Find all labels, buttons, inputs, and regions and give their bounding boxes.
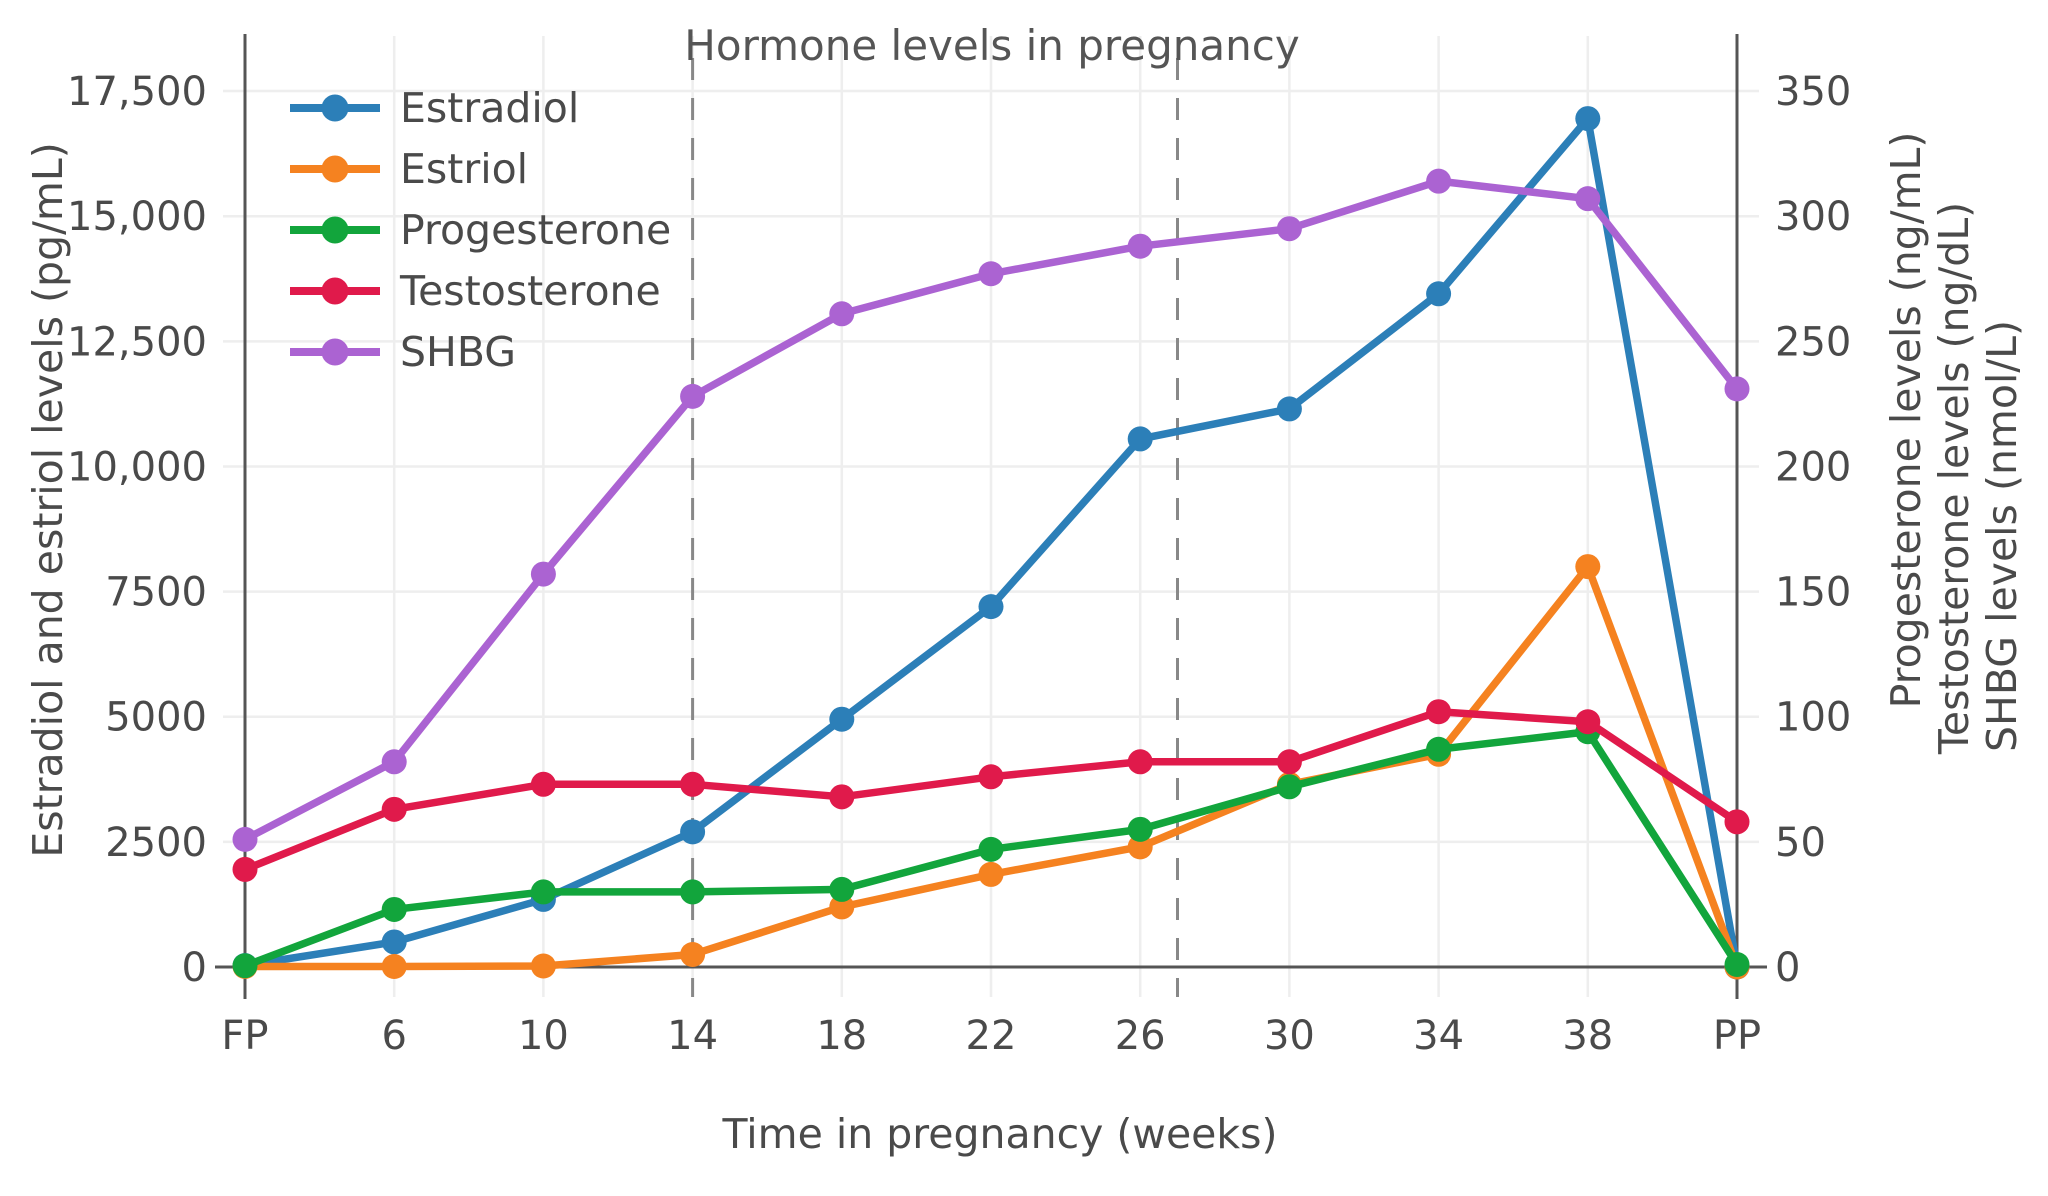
x-tick-label: 34: [1413, 1013, 1464, 1059]
legend-swatch-dot-progesterone: [322, 217, 349, 244]
legend-label-estradiol: Estradiol: [400, 84, 579, 132]
chart-legend: EstradiolEstriolProgesteroneTestosterone…: [290, 84, 671, 376]
data-point[interactable]: [1575, 554, 1600, 579]
data-point[interactable]: [382, 929, 407, 954]
y-left-tick-label: 7500: [105, 570, 207, 616]
y-left-tick-label: 2500: [105, 820, 207, 866]
data-point[interactable]: [979, 764, 1004, 789]
legend-swatch-dot-estradiol: [322, 95, 349, 122]
x-tick-label: 30: [1264, 1013, 1315, 1059]
y-left-tick-label: 0: [182, 945, 207, 991]
data-point[interactable]: [1426, 169, 1451, 194]
legend-item-estriol[interactable]: Estriol: [290, 145, 528, 193]
data-point[interactable]: [1128, 426, 1153, 451]
y-axis-right-title-2: Testosterone levels (ng/dL): [1930, 202, 1978, 755]
data-point[interactable]: [680, 772, 705, 797]
data-point[interactable]: [1725, 809, 1750, 834]
data-point[interactable]: [1725, 952, 1750, 977]
legend-label-shbg: SHBG: [400, 328, 516, 376]
y-axis-right-ticklabels: 350300250200150100500: [1775, 69, 1851, 991]
y-axis-left-ticklabels: 17,50015,00012,50010,0007500500025000: [67, 69, 207, 991]
data-point[interactable]: [1128, 234, 1153, 259]
data-point[interactable]: [829, 301, 854, 326]
data-point[interactable]: [680, 879, 705, 904]
legend-swatch-dot-shbg: [322, 339, 349, 366]
data-point[interactable]: [382, 897, 407, 922]
data-point[interactable]: [979, 862, 1004, 887]
data-point[interactable]: [1277, 774, 1302, 799]
data-point[interactable]: [531, 562, 556, 587]
data-point[interactable]: [829, 784, 854, 809]
y-right-tick-label: 0: [1775, 945, 1800, 991]
y-right-tick-label: 150: [1775, 570, 1851, 616]
x-tick-label: 38: [1562, 1013, 1613, 1059]
data-point[interactable]: [1128, 749, 1153, 774]
data-point[interactable]: [1426, 281, 1451, 306]
x-tick-label: 22: [966, 1013, 1017, 1059]
data-point[interactable]: [233, 953, 258, 978]
x-tick-label: 26: [1115, 1013, 1166, 1059]
y-left-tick-label: 12,500: [67, 319, 207, 365]
data-point[interactable]: [979, 837, 1004, 862]
legend-label-estriol: Estriol: [400, 145, 528, 193]
y-right-tick-label: 300: [1775, 194, 1851, 240]
data-point[interactable]: [680, 819, 705, 844]
x-tick-label: 6: [381, 1013, 406, 1059]
y-right-tick-label: 350: [1775, 69, 1851, 115]
legend-label-progesterone: Progesterone: [400, 206, 671, 254]
data-point[interactable]: [382, 749, 407, 774]
chart-title: Hormone levels in pregnancy: [684, 21, 1299, 70]
legend-item-progesterone[interactable]: Progesterone: [290, 206, 671, 254]
chart-container: FP61014182226303438PP 17,50015,00012,500…: [0, 0, 2048, 1196]
data-point[interactable]: [531, 772, 556, 797]
legend-item-testosterone[interactable]: Testosterone: [290, 267, 661, 315]
y-left-tick-label: 15,000: [67, 194, 207, 240]
data-point[interactable]: [1426, 699, 1451, 724]
y-axis-right-title-1: Progesterone levels (ng/mL): [1882, 132, 1930, 709]
data-point[interactable]: [1277, 216, 1302, 241]
data-point[interactable]: [1575, 186, 1600, 211]
data-point[interactable]: [1128, 817, 1153, 842]
y-left-tick-label: 5000: [105, 695, 207, 741]
x-tick-label: 10: [518, 1013, 569, 1059]
data-point[interactable]: [680, 942, 705, 967]
data-point[interactable]: [1426, 737, 1451, 762]
data-point[interactable]: [233, 827, 258, 852]
data-point[interactable]: [1277, 749, 1302, 774]
data-point[interactable]: [1575, 106, 1600, 131]
x-axis-title: Time in pregnancy (weeks): [721, 1110, 1277, 1158]
data-point[interactable]: [233, 857, 258, 882]
y-axis-left-title: Estradiol and estriol levels (pg/mL): [24, 142, 72, 857]
x-axis-ticklabels: FP61014182226303438PP: [221, 1013, 1761, 1059]
data-point[interactable]: [979, 261, 1004, 286]
data-point[interactable]: [1277, 396, 1302, 421]
legend-label-testosterone: Testosterone: [399, 267, 661, 315]
data-point[interactable]: [531, 879, 556, 904]
data-point[interactable]: [1575, 709, 1600, 734]
data-point[interactable]: [382, 954, 407, 979]
data-point[interactable]: [979, 594, 1004, 619]
y-axis-right-title-3: SHBG levels (nmol/L): [1978, 320, 2026, 752]
legend-swatch-dot-estriol: [322, 156, 349, 183]
x-tick-label: FP: [221, 1013, 268, 1059]
data-point[interactable]: [829, 877, 854, 902]
y-left-tick-label: 17,500: [67, 69, 207, 115]
x-tick-label: PP: [1713, 1013, 1761, 1059]
legend-swatch-dot-testosterone: [322, 278, 349, 305]
y-right-tick-label: 250: [1775, 319, 1851, 365]
y-right-tick-label: 200: [1775, 444, 1851, 490]
x-tick-label: 18: [816, 1013, 867, 1059]
data-point[interactable]: [382, 797, 407, 822]
y-right-tick-label: 100: [1775, 695, 1851, 741]
data-point[interactable]: [1725, 376, 1750, 401]
hormone-levels-line-chart: FP61014182226303438PP 17,50015,00012,500…: [0, 0, 2048, 1196]
data-point[interactable]: [531, 953, 556, 978]
data-point[interactable]: [680, 384, 705, 409]
x-tick-label: 14: [667, 1013, 718, 1059]
legend-item-shbg[interactable]: SHBG: [290, 328, 516, 376]
y-left-tick-label: 10,000: [67, 444, 207, 490]
axis-titles: Hormone levels in pregnancyTime in pregn…: [24, 21, 2026, 1158]
y-right-tick-label: 50: [1775, 820, 1826, 866]
data-point[interactable]: [829, 707, 854, 732]
